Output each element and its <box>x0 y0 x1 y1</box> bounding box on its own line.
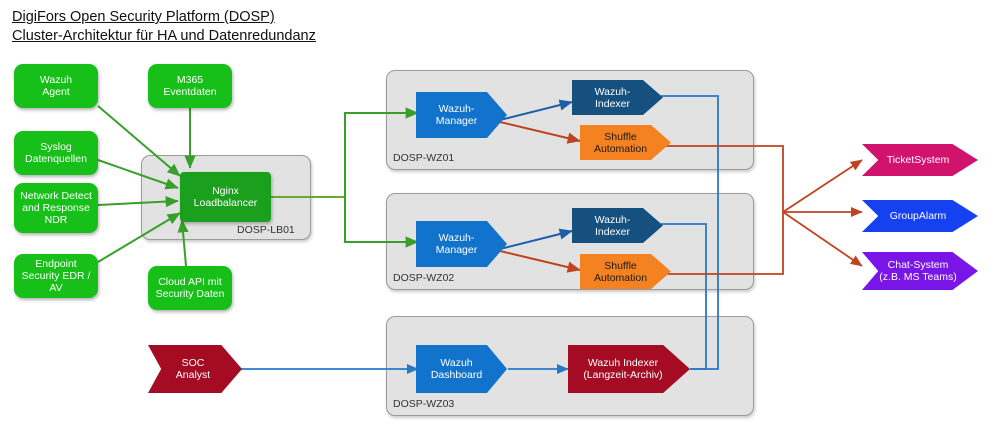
page-title: DigiFors Open Security Platform (DOSP) C… <box>12 8 316 46</box>
node-label: SOC Analyst <box>170 357 220 381</box>
output-ticketsystem[interactable]: TicketSystem <box>862 144 978 176</box>
node-label: Wazuh- Indexer <box>595 214 641 238</box>
wire-junction-to-ticketsystem <box>783 160 862 212</box>
source-label: Network Detect and Response NDR <box>20 190 92 226</box>
group-label-wz03: DOSP-WZ03 <box>393 398 454 410</box>
source-label: M365 Eventdaten <box>163 74 216 98</box>
node-label: Shuffle Automation <box>594 260 657 284</box>
source-label: Wazuh Agent <box>40 74 72 98</box>
node-label: TicketSystem <box>881 154 960 166</box>
node-label: Wazuh- Manager <box>436 103 487 127</box>
node-label: Wazuh- Manager <box>436 232 487 256</box>
node-label: Shuffle Automation <box>594 131 657 155</box>
group-label-wz01: DOSP-WZ01 <box>393 152 454 164</box>
output-groupalarm[interactable]: GroupAlarm <box>862 200 978 232</box>
source-box-endpoint[interactable]: Endpoint Security EDR / AV <box>14 254 98 298</box>
node-nginx-loadbalancer[interactable]: Nginx Loadbalancer <box>180 172 271 222</box>
node-soc-analyst[interactable]: SOC Analyst <box>148 345 242 393</box>
source-box-cloud-api[interactable]: Cloud API mit Security Daten <box>148 266 232 310</box>
title-line-1: DigiFors Open Security Platform (DOSP) <box>12 8 316 27</box>
node-label: Nginx Loadbalancer <box>194 185 258 209</box>
node-label: GroupAlarm <box>884 210 957 222</box>
wire-junction-to-chatsystem <box>783 212 862 266</box>
node-label: Wazuh Dashboard <box>431 357 492 381</box>
title-line-2: Cluster-Architektur für HA und Datenredu… <box>12 27 316 46</box>
source-label: Syslog Datenquellen <box>25 141 87 165</box>
source-box-m365[interactable]: M365 Eventdaten <box>148 64 232 108</box>
diagram-canvas: DigiFors Open Security Platform (DOSP) C… <box>0 0 1000 432</box>
node-label: Wazuh- Indexer <box>595 86 641 110</box>
source-box-wazuh-agent[interactable]: Wazuh Agent <box>14 64 98 108</box>
node-label: Wazuh Indexer (Langzeit-Archiv) <box>583 357 674 381</box>
source-label: Cloud API mit Security Daten <box>156 276 225 300</box>
group-label-wz02: DOSP-WZ02 <box>393 272 454 284</box>
group-label-lb01: DOSP-LB01 <box>237 224 295 236</box>
node-label: Chat-System (z.B. MS Teams) <box>873 259 966 283</box>
source-box-syslog[interactable]: Syslog Datenquellen <box>14 131 98 175</box>
source-label: Endpoint Security EDR / AV <box>14 258 98 294</box>
output-chat-system[interactable]: Chat-System (z.B. MS Teams) <box>862 252 978 290</box>
source-box-ndr[interactable]: Network Detect and Response NDR <box>14 183 98 233</box>
